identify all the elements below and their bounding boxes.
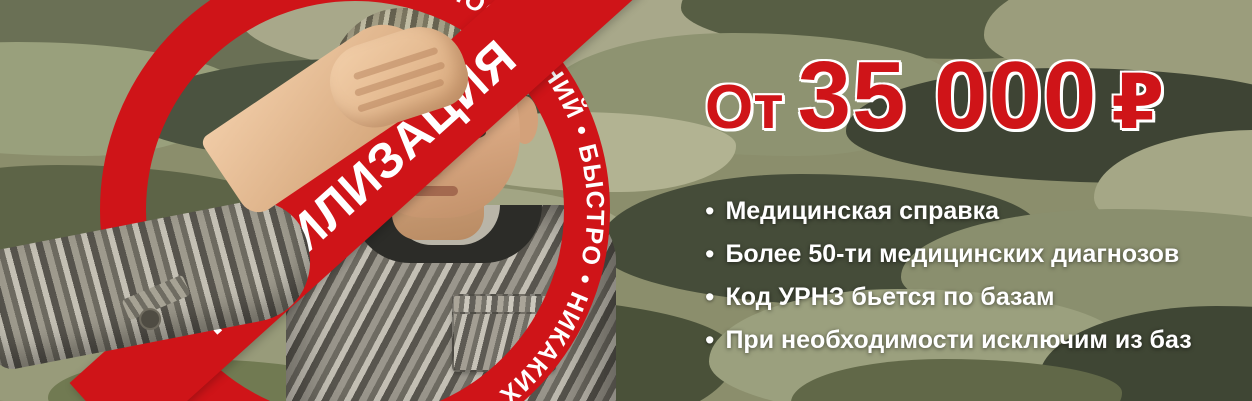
- price-prefix: От: [705, 77, 784, 139]
- list-item-label: Медицинская справка: [725, 196, 999, 226]
- bullet-icon: •: [705, 239, 714, 269]
- price-headline: От 35 000 ₽: [705, 48, 1164, 144]
- list-item-label: Код УРНЗ бьется по базам: [725, 282, 1054, 312]
- list-item-label: При необходимости исключим из баз: [725, 325, 1191, 355]
- price-amount: 35 000: [798, 48, 1098, 144]
- promo-banner: БЕЗ ПОСЕЩЕНИЙ • БЫСТРО • НИКАКИХ ФЕЙКОВ …: [0, 0, 1252, 401]
- bullet-icon: •: [705, 325, 714, 355]
- offer-content: От 35 000 ₽ • Медицинская справка • Боле…: [700, 0, 1252, 401]
- bullet-icon: •: [705, 196, 714, 226]
- price-currency: ₽: [1111, 65, 1164, 141]
- list-item: • При необходимости исключим из баз: [705, 325, 1251, 355]
- list-item: • Код УРНЗ бьется по базам: [705, 282, 1251, 312]
- list-item: • Более 50-ти медицинских диагнозов: [705, 239, 1251, 269]
- list-item-label: Более 50-ти медицинских диагнозов: [725, 239, 1179, 269]
- bullet-icon: •: [705, 282, 714, 312]
- feature-list: • Медицинская справка • Более 50-ти меди…: [705, 196, 1251, 368]
- prohibition-sign: БЕЗ ПОСЕЩЕНИЙ • БЫСТРО • НИКАКИХ ФЕЙКОВ …: [100, 0, 610, 401]
- list-item: • Медицинская справка: [705, 196, 1251, 226]
